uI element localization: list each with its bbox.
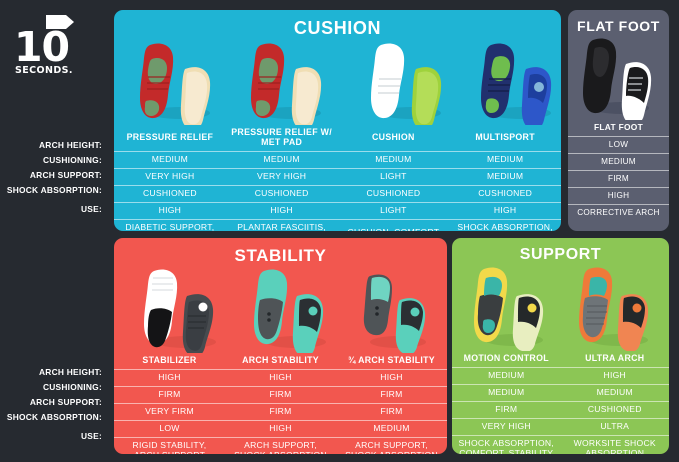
cell-use: RIGID STABILITY,ARCH SUPPORT xyxy=(114,438,225,454)
cell-arch-height: MEDIUM xyxy=(338,151,450,168)
insole-image-pressure-relief-met-pad xyxy=(239,39,337,125)
table-row-use: CORRECTIVE ARCH xyxy=(568,205,669,222)
cell-cushioning: FIRM xyxy=(225,387,336,404)
table-row-arch-support: VERY FIRM FIRM FIRM xyxy=(114,404,447,421)
cell-arch-support: FIRM xyxy=(225,404,336,421)
table-row-shock-absorption: HIGH xyxy=(568,188,669,205)
spec-table-cushion: PRESSURE RELIEF PRESSURE RELIEF W/ MET P… xyxy=(114,125,561,231)
product-name: MULTISPORT xyxy=(449,125,561,151)
insole-image-flat-foot xyxy=(573,34,665,120)
row-label-use: USE: xyxy=(0,198,110,220)
table-row-arch-support: FIRM CUSHIONED xyxy=(452,402,669,419)
cell-cushioning: FIRM xyxy=(114,387,225,404)
cell-use: CUSHION, COMFORT xyxy=(338,219,450,231)
table-row-shock-absorption: LOW HIGH MEDIUM xyxy=(114,421,447,438)
cell-shock-absorption: HIGH xyxy=(114,202,226,219)
cell-shock-absorption: ULTRA xyxy=(561,419,670,436)
row-labels-bottom: ARCH HEIGHT: CUSHIONING: ARCH SUPPORT: S… xyxy=(0,365,110,447)
table-row-arch-support: CUSHIONED CUSHIONED CUSHIONED CUSHIONED xyxy=(114,185,561,202)
cell-arch-support: CUSHIONED xyxy=(338,185,450,202)
table-row-arch-height: MEDIUM MEDIUM MEDIUM MEDIUM xyxy=(114,151,561,168)
cell-use: SHOCK ABSORPTION,COMFORT, STABILITY xyxy=(452,436,561,454)
insole-image-stabilizer xyxy=(132,266,230,353)
table-row-arch-height: HIGH HIGH HIGH xyxy=(114,370,447,387)
cell-arch-support: VERY FIRM xyxy=(114,404,225,421)
row-label-arch-support: ARCH SUPPORT: xyxy=(0,168,110,183)
cell-arch-height: LOW xyxy=(568,137,669,154)
cell-use: ARCH SUPPORT,SHOCK ABSORPTION xyxy=(225,438,336,454)
cell-shock-absorption: MEDIUM xyxy=(336,421,447,438)
row-label-use: USE: xyxy=(0,425,110,447)
cell-arch-height: HIGH xyxy=(114,370,225,387)
panel-title-cushion: CUSHION xyxy=(114,10,561,39)
cell-arch-height: MEDIUM xyxy=(452,368,561,385)
cell-shock-absorption: HIGH xyxy=(568,188,669,205)
cell-cushioning: MEDIUM xyxy=(568,154,669,171)
insole-image-arch-stability xyxy=(242,266,340,353)
table-row-arch-height: LOW xyxy=(568,137,669,154)
table-row-product-name: STABILIZER ARCH STABILITY ¾ ARCH STABILI… xyxy=(114,353,447,370)
cell-shock-absorption: HIGH xyxy=(225,421,336,438)
cell-arch-support: CUSHIONED xyxy=(449,185,561,202)
row-label-arch-height: ARCH HEIGHT: xyxy=(0,138,110,153)
cell-shock-absorption: HIGH xyxy=(226,202,338,219)
row-label-shock-absorption: SHOCK ABSORPTION: xyxy=(0,410,110,425)
row-label-arch-support: ARCH SUPPORT: xyxy=(0,395,110,410)
row-label-arch-height: ARCH HEIGHT: xyxy=(0,365,110,380)
spec-table-flat-foot: FLAT FOOT LOW MEDIUM FIRM HIGH CORRECTIV… xyxy=(568,120,669,222)
cell-arch-support: CUSHIONED xyxy=(114,185,226,202)
product-images-stability xyxy=(114,266,447,353)
table-row-cushioning: MEDIUM xyxy=(568,154,669,171)
table-row-use: DIABETIC SUPPORT,CUSTOM COMFORT PLANTAR … xyxy=(114,219,561,231)
table-row-cushioning: MEDIUM MEDIUM xyxy=(452,385,669,402)
cell-cushioning: VERY HIGH xyxy=(114,168,226,185)
cell-arch-height: MEDIUM xyxy=(449,151,561,168)
product-name: ULTRA ARCH xyxy=(561,351,670,368)
product-images-support xyxy=(452,264,669,351)
spec-table-stability: STABILIZER ARCH STABILITY ¾ ARCH STABILI… xyxy=(114,353,447,454)
cell-use: CORRECTIVE ARCH xyxy=(568,205,669,222)
row-label-cushioning: CUSHIONING: xyxy=(0,380,110,395)
panel-title-flat-foot: FLAT FOOT xyxy=(568,10,669,34)
cell-arch-height: HIGH xyxy=(336,370,447,387)
cell-cushioning: MEDIUM xyxy=(449,168,561,185)
cell-use: DIABETIC SUPPORT,CUSTOM COMFORT xyxy=(114,219,226,231)
table-row-product-name: FLAT FOOT xyxy=(568,120,669,137)
cell-cushioning: VERY HIGH xyxy=(226,168,338,185)
product-name: ¾ ARCH STABILITY xyxy=(336,353,447,370)
cell-arch-height: HIGH xyxy=(561,368,670,385)
insole-image-pressure-relief xyxy=(128,39,226,125)
table-row-shock-absorption: VERY HIGH ULTRA xyxy=(452,419,669,436)
spec-table-support: MOTION CONTROL ULTRA ARCH MEDIUM HIGH ME… xyxy=(452,351,669,454)
product-name: STABILIZER xyxy=(114,353,225,370)
table-row-use: RIGID STABILITY,ARCH SUPPORT ARCH SUPPOR… xyxy=(114,438,447,454)
table-row-arch-height: MEDIUM HIGH xyxy=(452,368,669,385)
cell-use: SHOCK ABSORPTION,STABILITY, COMFORT xyxy=(449,219,561,231)
cell-arch-height: MEDIUM xyxy=(114,151,226,168)
insole-image-three-quarter-arch-stability xyxy=(348,266,440,353)
product-name: ARCH STABILITY xyxy=(225,353,336,370)
panel-cushion: CUSHION xyxy=(114,10,561,231)
panel-stability: STABILITY xyxy=(114,238,447,454)
cell-use: PLANTAR FASCIITIS,MORTON'S NEUROMA xyxy=(226,219,338,231)
cell-shock-absorption: LOW xyxy=(114,421,225,438)
insole-image-multisport xyxy=(469,39,561,125)
cell-arch-support: CUSHIONED xyxy=(226,185,338,202)
cell-shock-absorption: LIGHT xyxy=(338,202,450,219)
row-labels-top: ARCH HEIGHT: CUSHIONING: ARCH SUPPORT: S… xyxy=(0,138,110,220)
product-name: FLAT FOOT xyxy=(568,120,669,137)
product-name: PRESSURE RELIEF xyxy=(114,125,226,151)
logo-number: 10 xyxy=(14,27,69,68)
cell-arch-support: FIRM xyxy=(452,402,561,419)
cell-shock-absorption: VERY HIGH xyxy=(452,419,561,436)
cell-arch-height: HIGH xyxy=(225,370,336,387)
row-label-shock-absorption: SHOCK ABSORPTION: xyxy=(0,183,110,198)
panel-title-support: SUPPORT xyxy=(452,238,669,264)
cell-arch-support: CUSHIONED xyxy=(561,402,670,419)
brand-logo: 10 SECONDS. xyxy=(10,14,82,76)
panel-flat-foot: FLAT FOOT FLAT FOOT LOW MEDIUM FIRM HI xyxy=(568,10,669,231)
cell-shock-absorption: HIGH xyxy=(449,202,561,219)
insole-image-ultra-arch xyxy=(567,264,665,351)
cell-arch-height: MEDIUM xyxy=(226,151,338,168)
row-label-cushioning: CUSHIONING: xyxy=(0,153,110,168)
cell-use: WORKSITE SHOCKABSORPTION xyxy=(561,436,670,454)
product-name: MOTION CONTROL xyxy=(452,351,561,368)
insole-image-motion-control xyxy=(462,264,560,351)
logo-word: SECONDS. xyxy=(15,66,73,76)
cell-cushioning: LIGHT xyxy=(338,168,450,185)
cell-cushioning: MEDIUM xyxy=(561,385,670,402)
cell-cushioning: MEDIUM xyxy=(452,385,561,402)
panel-support: SUPPORT xyxy=(452,238,669,454)
table-row-arch-support: FIRM xyxy=(568,171,669,188)
product-name: PRESSURE RELIEF W/ MET PAD xyxy=(226,125,338,151)
panel-title-stability: STABILITY xyxy=(114,238,447,266)
cell-cushioning: FIRM xyxy=(336,387,447,404)
table-row-product-name: MOTION CONTROL ULTRA ARCH xyxy=(452,351,669,368)
cell-arch-support: FIRM xyxy=(568,171,669,188)
product-images-flat-foot xyxy=(568,34,669,120)
table-row-shock-absorption: HIGH HIGH LIGHT HIGH xyxy=(114,202,561,219)
insole-image-cushion xyxy=(359,39,457,125)
table-row-cushioning: VERY HIGH VERY HIGH LIGHT MEDIUM xyxy=(114,168,561,185)
cell-arch-support: FIRM xyxy=(336,404,447,421)
product-images-cushion xyxy=(114,39,561,125)
cell-use: ARCH SUPPORT,SHOCK ABSORPTION xyxy=(336,438,447,454)
table-row-use: SHOCK ABSORPTION,COMFORT, STABILITY WORK… xyxy=(452,436,669,454)
table-row-cushioning: FIRM FIRM FIRM xyxy=(114,387,447,404)
table-row-product-name: PRESSURE RELIEF PRESSURE RELIEF W/ MET P… xyxy=(114,125,561,151)
product-name: CUSHION xyxy=(338,125,450,151)
